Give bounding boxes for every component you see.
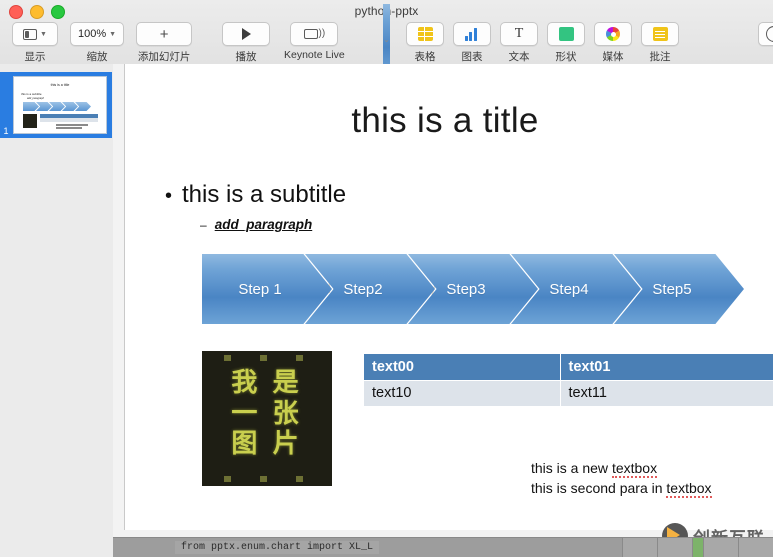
picture-caption-line-1: 我 是 (202, 367, 332, 398)
table-row[interactable]: text10 text11 (364, 380, 773, 406)
toolbar-label-play: 播放 (236, 49, 257, 64)
toolbar-label-view: 显示 (25, 49, 46, 64)
add-slide-button[interactable]: + (136, 22, 192, 46)
insert-table-button[interactable] (406, 22, 444, 46)
toolbar-item-view[interactable]: ▼ 显示 (12, 22, 58, 64)
sub-bullet-row[interactable]: – add_paragraph (200, 217, 312, 232)
add-paragraph-text: add_paragraph (215, 217, 313, 232)
subtitle-text: this is a subtitle (182, 181, 346, 209)
textbox-paragraph-1: this is a new textbox (531, 458, 712, 478)
toolbar-item-text[interactable]: T 文本 (500, 22, 538, 64)
slide-canvas[interactable]: this is a title • this is a subtitle – a… (113, 64, 773, 557)
keynote-window: python-pptx ⌄ ▼ 显示 100% ▼ 缩放 (0, 0, 773, 557)
toolbar-item-media[interactable]: 媒体 (594, 22, 632, 64)
insert-text-button[interactable]: T (500, 22, 538, 46)
toolbar-right-group: 表格 图表 T 文本 形状 (406, 22, 679, 64)
partial-circle-icon (766, 26, 773, 42)
toolbar-item-add-slide[interactable]: + 添加幻灯片 (136, 22, 192, 64)
toolbar-label-keynote-live: Keynote Live (284, 49, 345, 61)
process-step-label: Step3 (446, 281, 485, 298)
keynote-live-button[interactable]: )) (290, 22, 338, 46)
chevron-down-icon: ▼ (109, 31, 116, 38)
process-step-label: Step2 (343, 281, 382, 298)
slide-picture[interactable]: 我 是 一 张 图 片 (202, 351, 332, 486)
picture-dots-top (202, 355, 332, 361)
toolbar-center-group: 播放 )) Keynote Live (222, 22, 345, 64)
chart-icon (465, 27, 480, 41)
zoom-button-toolbar[interactable]: 100% ▼ (70, 22, 124, 46)
code-line: from pptx.enum.chart import XL_L (175, 541, 379, 554)
thumb-title: this is a title (14, 83, 106, 87)
subtitle-bullet-row[interactable]: • this is a subtitle (165, 181, 346, 209)
live-broadcast-icon: )) (304, 29, 326, 39)
textbox-paragraph-2: this is second para in textbox (531, 478, 712, 498)
table-cell-0-0[interactable]: text10 (364, 380, 560, 406)
misspelled-word: textbox (612, 460, 657, 478)
table-icon (418, 27, 433, 41)
toolbar-label-add-slide: 添加幻灯片 (138, 49, 191, 64)
toolbar-label-media: 媒体 (603, 49, 624, 64)
slide-number-label: 1 (0, 126, 12, 136)
media-icon (606, 27, 620, 41)
process-step-label: Step4 (549, 281, 588, 298)
slide-thumbnail-1[interactable]: 1 this is a title this is a subtitle add… (0, 72, 112, 138)
toolbar-item-zoom[interactable]: 100% ▼ 缩放 (70, 22, 124, 64)
zoom-level-value: 100% (78, 28, 106, 40)
table-cell-header-0[interactable]: text00 (364, 354, 560, 380)
background-code-editor[interactable]: from pptx.enum.chart import XL_L (113, 537, 773, 557)
slide-surface[interactable]: this is a title • this is a subtitle – a… (124, 64, 773, 530)
toolbar-label-zoom: 缩放 (87, 49, 108, 64)
chevron-down-icon: ▼ (40, 31, 47, 38)
toolbar-label-chart: 图表 (462, 49, 483, 64)
insert-chart-button[interactable] (453, 22, 491, 46)
view-button[interactable]: ▼ (12, 22, 58, 46)
comment-icon (653, 27, 668, 41)
slide-table[interactable]: text00 text01 text10 text11 (364, 354, 773, 406)
code-editor-cells (622, 538, 773, 557)
dash-marker-icon: – (200, 218, 207, 232)
slide-thumbnail-preview: this is a title this is a subtitle add_p… (13, 76, 107, 134)
table-cell-header-1[interactable]: text01 (560, 354, 773, 380)
overflow-button[interactable] (758, 22, 773, 46)
thumb-subtitle: this is a subtitle (21, 92, 42, 96)
picture-dots-bottom (202, 476, 332, 482)
process-diagram[interactable]: http://blog.csdn.net/u011419... Step 1 S… (202, 254, 714, 324)
insert-shape-button[interactable] (547, 22, 585, 46)
toolbar-item-comment[interactable]: 批注 (641, 22, 679, 64)
play-icon (242, 28, 251, 40)
toolbar-label-shape: 形状 (556, 49, 577, 64)
misspelled-word: textbox (666, 480, 711, 498)
picture-caption: 我 是 一 张 图 片 (202, 367, 332, 459)
process-step-label: Step5 (652, 281, 691, 298)
picture-caption-line-2: 一 张 (202, 398, 332, 429)
shape-icon (559, 27, 574, 41)
insert-media-button[interactable] (594, 22, 632, 46)
thumb-textbox-line1 (56, 124, 88, 126)
thumb-textbox-line2 (56, 127, 82, 129)
toolbar-label-comment: 批注 (650, 49, 671, 64)
toolbar-label-table: 表格 (415, 49, 436, 64)
picture-caption-line-3: 图 片 (202, 428, 332, 459)
add-comment-button[interactable] (641, 22, 679, 46)
toolbar-item-shape[interactable]: 形状 (547, 22, 585, 64)
toolbar-item-table[interactable]: 表格 (406, 22, 444, 64)
slide-textbox[interactable]: this is a new textbox this is second par… (531, 458, 712, 499)
bullet-marker-icon: • (165, 186, 172, 206)
toolbar-item-play[interactable]: 播放 (222, 22, 270, 64)
toolbar: python-pptx ⌄ ▼ 显示 100% ▼ 缩放 (0, 0, 773, 65)
play-button[interactable] (222, 22, 270, 46)
slide-title[interactable]: this is a title (125, 101, 765, 141)
plus-icon: + (160, 27, 169, 42)
slide-navigator[interactable]: 1 this is a title this is a subtitle add… (0, 64, 114, 557)
process-step-1[interactable]: Step 1 (202, 254, 332, 324)
thumb-picture (23, 114, 37, 128)
toolbar-item-chart[interactable]: 图表 (453, 22, 491, 64)
document-title[interactable]: python-pptx ⌄ (0, 4, 773, 18)
toolbar-overflow-group[interactable] (758, 22, 773, 46)
process-step-label: Step 1 (238, 281, 281, 298)
toolbar-label-text: 文本 (509, 49, 530, 64)
text-icon: T (515, 27, 524, 41)
table-cell-0-1[interactable]: text11 (560, 380, 773, 406)
thumb-sub-bullet: add_paragraph (27, 97, 44, 100)
display-icon (23, 29, 37, 40)
thumb-table-row (40, 118, 98, 122)
toolbar-item-keynote-live[interactable]: )) Keynote Live (284, 22, 345, 61)
thumb-process-diagram (23, 102, 88, 111)
toolbar-left-group: ▼ 显示 100% ▼ 缩放 + 添加幻灯片 (12, 22, 192, 64)
toolbar-item-overflow[interactable] (758, 22, 773, 46)
table-header-row[interactable]: text00 text01 (364, 354, 773, 380)
